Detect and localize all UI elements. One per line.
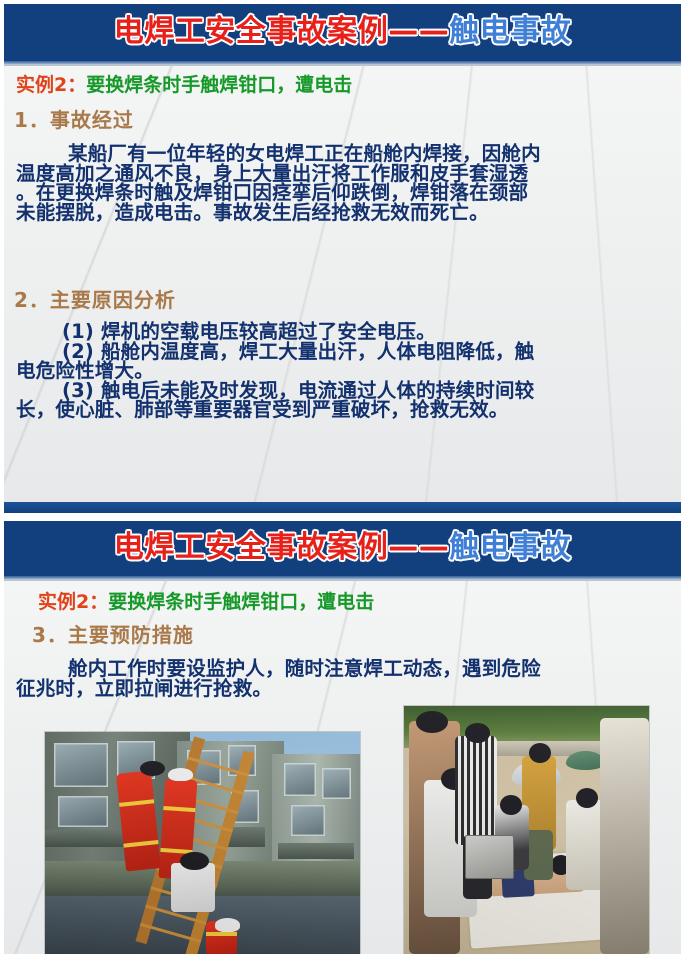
- slide-1-section1-paragraph: 某船厂有一位年轻的女电焊工正在船舱内焊接，因舱内 温度高加之通风不良，身上大量出…: [16, 144, 671, 222]
- slide-2-case-label: 实例2：: [38, 591, 108, 613]
- slide-1-case-label: 实例2：: [16, 74, 86, 96]
- ladder-rescue-photo-content: [45, 732, 360, 954]
- cause-item-3-cont: 长，使心脏、肺部等重要器官受到严重破坏，抢救无效。: [16, 400, 671, 420]
- slide-1-content: 实例2：要换焊条时手触焊钳口，遭电击 1．事故经过 某船厂有一位年轻的女电焊工正…: [4, 4, 681, 513]
- screenshot-page: 电焊工安全事故案例——触电事故 实例2：要换焊条时手触焊钳口，遭电击 1．事故经…: [0, 0, 685, 954]
- paragraph-line: 未能摆脱，造成电击。事故发生后经抢救无效而死亡。: [16, 203, 671, 223]
- slide-2-case-text: 要换焊条时手触焊钳口，遭电击: [108, 591, 374, 613]
- slide-1-case-line: 实例2：要换焊条时手触焊钳口，遭电击: [16, 76, 352, 95]
- slide-1-section2-items: (1) 焊机的空载电压较高超过了安全电压。 (2) 船舱内温度高，焊工大量出汗，…: [16, 322, 671, 420]
- slide-2-section3-heading: 3．主要预防措施: [32, 625, 194, 645]
- slide-2-case-line: 实例2：要换焊条时手触焊钳口，遭电击: [38, 593, 374, 612]
- slide-1-section2-heading: 2．主要原因分析: [14, 290, 176, 310]
- slide-1: 电焊工安全事故案例——触电事故 实例2：要换焊条时手触焊钳口，遭电击 1．事故经…: [4, 4, 681, 513]
- slide-1-section1-heading: 1．事故经过: [14, 110, 134, 130]
- ladder-rescue-photo: [45, 732, 360, 954]
- first-aid-photo-content: [404, 706, 649, 954]
- paragraph-line: 征兆时，立即拉闸进行抢救。: [16, 679, 671, 699]
- slide-1-footer-bar: [4, 502, 681, 513]
- first-aid-photo: [404, 706, 649, 954]
- slide-2-section3-paragraph: 舱内工作时要设监护人，随时注意焊工动态，遇到危险 征兆时，立即拉闸进行抢救。: [16, 659, 671, 698]
- slide-1-case-text: 要换焊条时手触焊钳口，遭电击: [86, 74, 352, 96]
